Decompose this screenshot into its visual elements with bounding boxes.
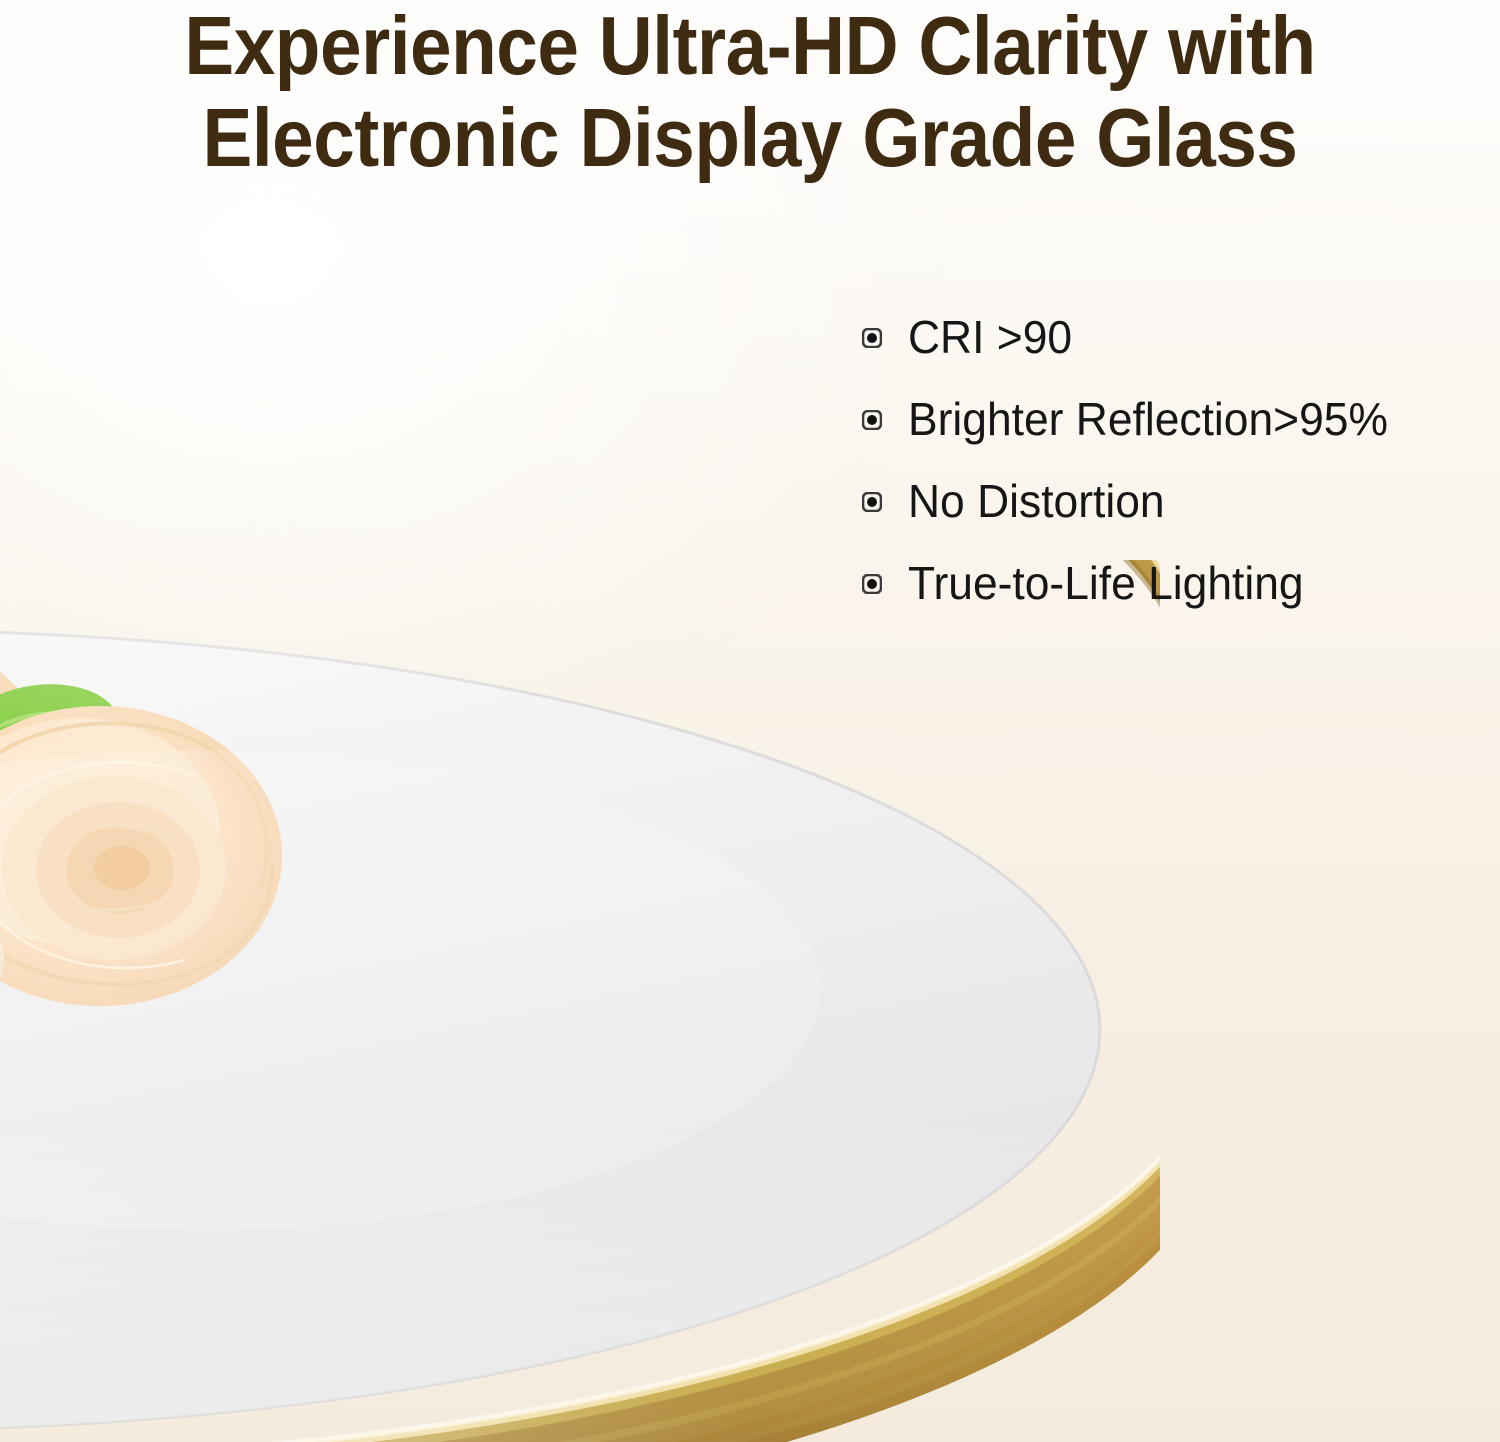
feature-item-no-distortion: No Distortion xyxy=(862,460,1405,542)
feature-item-true-to-life: True-to-Life Lighting xyxy=(862,542,1405,624)
page-title: Experience Ultra-HD Clarity with Electro… xyxy=(75,0,1425,184)
product-feature-panel: Experience Ultra-HD Clarity with Electro… xyxy=(0,0,1500,1442)
feature-label: True-to-Life Lighting xyxy=(908,560,1304,606)
headline-line-1: Experience Ultra-HD Clarity with xyxy=(75,0,1425,92)
target-dot-icon xyxy=(862,492,882,512)
headline-line-2: Electronic Display Grade Glass xyxy=(75,92,1425,184)
feature-label: No Distortion xyxy=(908,478,1165,524)
target-dot-icon xyxy=(862,574,882,594)
feature-item-cri: CRI >90 xyxy=(862,296,1405,378)
target-dot-icon xyxy=(862,328,882,348)
feature-item-reflection: Brighter Reflection>95% xyxy=(862,378,1405,460)
feature-label: CRI >90 xyxy=(908,314,1072,360)
product-photo-gold-mirror xyxy=(0,560,1160,1442)
feature-label: Brighter Reflection>95% xyxy=(908,396,1388,442)
target-dot-icon xyxy=(862,410,882,430)
feature-list: CRI >90 Brighter Reflection>95% No Disto… xyxy=(862,296,1405,624)
